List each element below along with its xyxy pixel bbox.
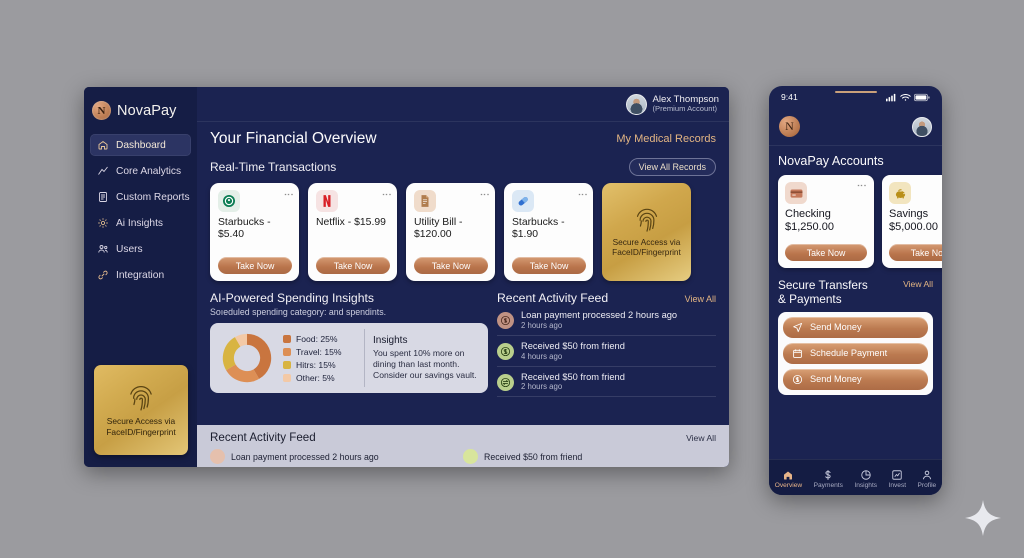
home-icon — [782, 469, 794, 481]
brand-logo: N NovaPay — [84, 95, 197, 130]
fingerprint-icon — [634, 206, 660, 234]
tab-payments[interactable]: Payments — [814, 469, 843, 489]
account-amount: $5,000.00 — [889, 221, 942, 234]
take-now-button[interactable]: Take Now — [512, 257, 586, 274]
bottom-activity-strip: Recent Activity Feed View All Loan payme… — [197, 425, 729, 467]
spending-donut-chart — [218, 329, 276, 387]
insight-note: Insights You spent 10% more on dining th… — [364, 329, 480, 387]
tab-profile[interactable]: Profile — [918, 469, 937, 489]
document-icon — [97, 191, 109, 203]
activity-text: Received $50 from friend — [521, 372, 625, 383]
take-now-button[interactable]: Take Now — [218, 257, 292, 274]
home-icon — [97, 139, 109, 151]
legend-swatch — [283, 335, 291, 343]
sidebar-item-ai-insights[interactable]: Ai Insights — [90, 212, 191, 234]
transaction-card-list: ⋮ Starbucks - $5.40 Take Now ⋮ Netflix -… — [210, 183, 716, 281]
home-indicator — [835, 91, 877, 93]
transfers-header: Secure Transfers & Payments View All — [778, 268, 933, 307]
view-all-records-button[interactable]: View All Records — [629, 158, 716, 176]
donut-segment-travel — [231, 367, 256, 376]
transaction-card[interactable]: ⋮ Utility Bill - $120.00 Take Now — [406, 183, 495, 281]
transaction-label: Netflix - $15.99 — [316, 217, 390, 229]
avatar — [626, 94, 647, 115]
transaction-card[interactable]: ⋮ Netflix - $15.99 Take Now — [308, 183, 397, 281]
account-card[interactable]: ⋮ Savings $5,000.00 Take Now — [882, 175, 942, 268]
card-menu-icon[interactable]: ⋮ — [285, 190, 292, 199]
secure-card-line2: FaceID/Fingerprint — [612, 248, 681, 258]
sidebar-item-label: Integration — [116, 270, 164, 281]
legend-label: Other: 5% — [296, 373, 335, 383]
activity-row[interactable]: Received $50 from friend 2 hours ago — [497, 367, 716, 398]
tab-label: Invest — [889, 482, 907, 489]
account-name: Checking — [785, 208, 867, 221]
take-now-button[interactable]: Take Now — [889, 244, 942, 261]
phone-body: NovaPay Accounts ⋮ Checking $1,250.00 Ta… — [769, 146, 942, 459]
legend-item: Other: 5% — [283, 373, 357, 383]
section-title: Real-Time Transactions — [210, 160, 336, 174]
tab-label: Overview — [775, 482, 802, 489]
transaction-label: Starbucks - $1.90 — [512, 217, 586, 242]
donut-segment-food — [247, 339, 266, 374]
button-label: Send Money — [810, 322, 862, 332]
transfers-view-all-link[interactable]: View All — [903, 279, 933, 289]
transaction-card[interactable]: ⋮ Starbucks - $1.90 Take Now — [504, 183, 593, 281]
legend-swatch — [283, 374, 291, 382]
send-icon — [792, 322, 803, 333]
sidebar-item-label: Core Analytics — [116, 166, 181, 177]
tab-label: Payments — [814, 482, 843, 489]
insights-box: Food: 25% Travel: 15% Hitrs: 15% Other: … — [210, 323, 488, 393]
tab-label: Profile — [918, 482, 937, 489]
schedule-payment-button[interactable]: Schedule Payment — [783, 343, 928, 364]
phone-header: N — [769, 108, 942, 146]
person-icon — [921, 469, 933, 481]
activity-time: 2 hours ago — [521, 382, 625, 392]
coin-icon — [210, 449, 225, 464]
bottom-strip-rows: Loan payment processed 2 hours ago Recei… — [210, 449, 716, 464]
bottom-strip-row[interactable]: Loan payment processed 2 hours ago — [210, 449, 463, 464]
nova-coin-icon[interactable]: N — [779, 116, 800, 137]
tab-insights[interactable]: Insights — [854, 469, 877, 489]
transfers-title-line1: Secure Transfers — [778, 278, 868, 292]
wifi-icon — [900, 93, 911, 102]
button-label: Schedule Payment — [810, 348, 887, 358]
bottom-strip-title: Recent Activity Feed — [210, 431, 316, 444]
user-role: (Premium Account) — [653, 105, 719, 114]
my-medical-records-link[interactable]: My Medical Records — [616, 133, 716, 145]
starbucks-icon — [218, 190, 240, 212]
lower-panels: AI-Powered Spending Insights Soıeduled s… — [210, 291, 716, 397]
gear-icon — [97, 217, 109, 229]
take-now-button[interactable]: Take Now — [316, 257, 390, 274]
sidebar-item-label: Users — [116, 244, 143, 255]
utility-bill-icon — [414, 190, 436, 212]
accounts-card-list: ⋮ Checking $1,250.00 Take Now ⋮ Savings … — [778, 175, 933, 268]
legend-label: Hitrs: 15% — [296, 360, 336, 370]
send-money-button[interactable]: Send Money — [783, 317, 928, 338]
sidebar: N NovaPay Dashboard Core Analytics Custo… — [84, 87, 197, 467]
sidebar-item-label: Dashboard — [116, 140, 166, 151]
secure-badge-line1: Secure Access via — [106, 416, 175, 426]
activity-row[interactable]: Loan payment processed 2 hours ago 2 hou… — [497, 305, 716, 336]
legend-item: Food: 25% — [283, 334, 357, 344]
status-time: 9:41 — [781, 92, 798, 102]
transaction-card[interactable]: ⋮ Starbucks - $5.40 Take Now — [210, 183, 299, 281]
dollar-icon — [822, 469, 834, 481]
account-card[interactable]: ⋮ Checking $1,250.00 Take Now — [778, 175, 874, 268]
bottom-strip-view-all[interactable]: View All — [686, 433, 716, 443]
card-menu-icon[interactable]: ⋮ — [857, 181, 867, 190]
activity-header: Recent Activity Feed View All — [497, 291, 716, 305]
legend-label: Travel: 15% — [296, 347, 342, 357]
transfer-icon — [497, 374, 514, 391]
nova-coin-icon: N — [92, 101, 111, 120]
legend-swatch — [283, 348, 291, 356]
activity-text: Received $50 from friend — [521, 341, 625, 352]
sidebar-item-dashboard[interactable]: Dashboard — [90, 134, 191, 156]
bottom-strip-row[interactable]: Received $50 from friend — [463, 449, 716, 464]
activity-view-all-link[interactable]: View All — [685, 294, 716, 304]
secure-access-badge[interactable]: Secure Access via FaceID/Fingerprint — [94, 365, 188, 455]
activity-time: 4 hours ago — [521, 352, 625, 362]
sidebar-item-integration[interactable]: Integration — [90, 264, 191, 286]
transfers-box: Send Money Schedule Payment Send Money — [778, 312, 933, 395]
bottom-strip-text: Loan payment processed 2 hours ago — [231, 452, 379, 462]
overview-header: Your Financial Overview My Medical Recor… — [210, 130, 716, 148]
calendar-icon — [792, 348, 803, 359]
activity-time: 2 hours ago — [521, 321, 677, 331]
card-menu-icon[interactable]: ⋮ — [481, 190, 488, 199]
donut-legend: Food: 25% Travel: 15% Hitrs: 15% Other: … — [283, 334, 357, 383]
sidebar-item-custom-reports[interactable]: Custom Reports — [90, 186, 191, 208]
sidebar-item-core-analytics[interactable]: Core Analytics — [90, 160, 191, 182]
bottom-strip-header: Recent Activity Feed View All — [210, 431, 716, 444]
mobile-phone-mockup: 9:41 N NovaPay Accounts ⋮ Checking $1,25… — [769, 86, 942, 495]
brand-name: NovaPay — [117, 103, 177, 119]
legend-item: Travel: 15% — [283, 347, 357, 357]
secure-access-card[interactable]: Secure Access via FaceID/Fingerprint — [602, 183, 691, 281]
tab-label: Insights — [854, 482, 877, 489]
sidebar-item-label: Custom Reports — [116, 192, 190, 203]
accounts-title: NovaPay Accounts — [778, 154, 933, 168]
pill-icon — [512, 190, 534, 212]
dollar-circle-icon — [463, 449, 478, 464]
users-icon — [97, 243, 109, 255]
top-bar: Alex Thompson (Premium Account) — [197, 87, 729, 122]
bottom-strip-text: Received $50 from friend — [484, 452, 582, 462]
piggy-bank-icon — [889, 182, 911, 204]
donut-segment-other — [238, 339, 247, 341]
main-content: Alex Thompson (Premium Account) Your Fin… — [197, 87, 729, 467]
status-bar: 9:41 — [769, 86, 942, 108]
avatar[interactable] — [912, 117, 932, 137]
card-menu-icon[interactable]: ⋮ — [579, 190, 586, 199]
page-title: Your Financial Overview — [210, 130, 377, 148]
donut-segment-hitrs — [228, 342, 237, 367]
activity-row[interactable]: Received $50 from friend 4 hours ago — [497, 336, 716, 367]
insights-title: AI-Powered Spending Insights — [210, 291, 488, 305]
account-amount: $1,250.00 — [785, 221, 867, 234]
insight-note-title: Insights — [373, 335, 480, 346]
credit-card-icon — [785, 182, 807, 204]
dollar-circle-icon — [792, 374, 803, 385]
legend-item: Hitrs: 15% — [283, 360, 357, 370]
bottom-tab-bar: Overview Payments Insights Invest Profil… — [769, 459, 942, 495]
account-name: Savings — [889, 208, 942, 221]
take-now-button[interactable]: Take Now — [785, 244, 867, 261]
coin-icon — [497, 312, 514, 329]
transfers-title-line2: & Payments — [778, 292, 868, 306]
dollar-circle-icon — [497, 343, 514, 360]
activity-title: Recent Activity Feed — [497, 291, 608, 305]
secure-badge-line2: FaceID/Fingerprint — [106, 427, 175, 437]
insight-note-body: You spent 10% more on dining than last m… — [373, 348, 480, 382]
transaction-label: Starbucks - $5.40 — [218, 217, 292, 242]
sidebar-item-users[interactable]: Users — [90, 238, 191, 260]
insights-subtitle: Soıeduled spending category: and spendin… — [210, 307, 488, 317]
netflix-icon — [316, 190, 338, 212]
legend-label: Food: 25% — [296, 334, 338, 344]
battery-icon — [914, 93, 930, 102]
tab-overview[interactable]: Overview — [775, 469, 802, 489]
cellular-icon — [886, 93, 897, 102]
card-menu-icon[interactable]: ⋮ — [383, 190, 390, 199]
activity-text: Loan payment processed 2 hours ago — [521, 310, 677, 321]
transaction-label: Utility Bill - $120.00 — [414, 217, 488, 242]
content-area: Your Financial Overview My Medical Recor… — [197, 122, 729, 467]
transfers-title: Secure Transfers & Payments — [778, 278, 868, 307]
realtime-transactions-header: Real-Time Transactions View All Records — [210, 158, 716, 176]
send-money-dollar-button[interactable]: Send Money — [783, 369, 928, 390]
legend-swatch — [283, 361, 291, 369]
pie-chart-icon — [860, 469, 872, 481]
take-now-button[interactable]: Take Now — [414, 257, 488, 274]
fingerprint-icon — [127, 383, 155, 413]
button-label: Send Money — [810, 374, 862, 384]
sparkle-icon — [963, 498, 1003, 538]
desktop-dashboard-window: N NovaPay Dashboard Core Analytics Custo… — [84, 87, 729, 467]
trend-icon — [891, 469, 903, 481]
recent-activity-panel: Recent Activity Feed View All Loan payme… — [497, 291, 716, 397]
sidebar-item-label: Ai Insights — [116, 218, 163, 229]
line-chart-icon — [97, 165, 109, 177]
link-icon — [97, 269, 109, 281]
user-account-chip[interactable]: Alex Thompson (Premium Account) — [626, 94, 719, 115]
spending-insights-panel: AI-Powered Spending Insights Soıeduled s… — [210, 291, 488, 397]
tab-invest[interactable]: Invest — [889, 469, 907, 489]
